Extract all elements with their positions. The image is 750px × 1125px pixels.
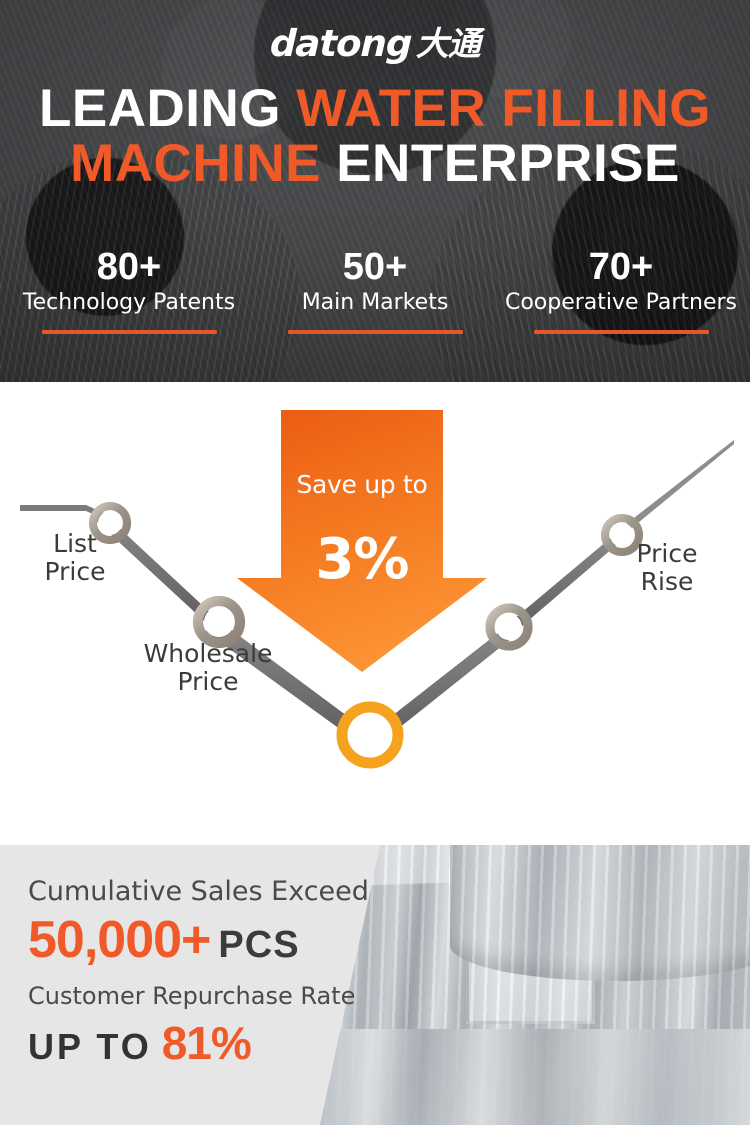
- label-price-rise: Price Rise: [612, 540, 722, 596]
- hero-stats-row: 80+ Technology Patents 50+ Main Markets …: [0, 248, 750, 334]
- logo-latin-text: datong: [270, 25, 413, 62]
- stat-value: 80+: [6, 248, 252, 288]
- node-mid-right-inner: [496, 614, 522, 640]
- stat-value: 70+: [498, 248, 744, 288]
- repurchase-caption: Customer Repurchase Rate: [28, 981, 388, 1011]
- label-price-rise-line1: Price: [637, 539, 698, 568]
- sales-figure-row: 50,000+PCS: [28, 913, 388, 968]
- stat-main-markets: 50+ Main Markets: [252, 248, 498, 334]
- stat-underline: [42, 330, 217, 334]
- headline-line-1: LEADING WATER FILLING: [0, 82, 750, 137]
- headline-machine: MACHINE: [70, 134, 336, 193]
- headline-leading: LEADING: [39, 79, 296, 138]
- label-wholesale-price-line1: Wholesale: [144, 639, 273, 668]
- sales-caption: Cumulative Sales Exceed: [28, 875, 388, 909]
- discount-arrow: [237, 410, 487, 672]
- label-list-price-line2: Price: [45, 557, 106, 586]
- stat-underline: [534, 330, 709, 334]
- label-list-price-line1: List: [53, 529, 97, 558]
- stat-label: Main Markets: [252, 290, 498, 316]
- repurchase-figure-row: UP TO81%: [28, 1019, 388, 1067]
- repurchase-value: 81%: [162, 1017, 251, 1069]
- logo-cjk-text: 大通: [416, 27, 480, 60]
- sales-unit: PCS: [218, 924, 299, 966]
- stat-technology-patents: 80+ Technology Patents: [6, 248, 252, 334]
- stat-cooperative-partners: 70+ Cooperative Partners: [498, 248, 744, 334]
- price-chart-section: Save up to 3% List Price Wholesale Price…: [0, 382, 750, 845]
- sales-value: 50,000+: [28, 911, 210, 969]
- label-wholesale-price-line2: Price: [178, 667, 239, 696]
- node-wholesale-price-inner: [204, 607, 234, 637]
- stat-label: Cooperative Partners: [498, 290, 744, 316]
- label-price-rise-line2: Rise: [641, 567, 694, 596]
- label-wholesale-price: Wholesale Price: [118, 640, 298, 696]
- price-line-chart: [0, 382, 750, 845]
- infographic-page: datong 大通 LEADING WATER FILLING MACHINE …: [0, 0, 750, 1125]
- repurchase-prefix: UP TO: [28, 1026, 152, 1067]
- stat-underline: [288, 330, 463, 334]
- sales-text-block: Cumulative Sales Exceed 50,000+PCS Custo…: [28, 875, 388, 1068]
- label-list-price: List Price: [20, 530, 130, 586]
- sales-section: Cumulative Sales Exceed 50,000+PCS Custo…: [0, 845, 750, 1125]
- hero-banner: datong 大通 LEADING WATER FILLING MACHINE …: [0, 0, 750, 382]
- headline-enterprise: ENTERPRISE: [336, 134, 680, 193]
- hero-headline: LEADING WATER FILLING MACHINE ENTERPRISE: [0, 82, 750, 191]
- headline-line-2: MACHINE ENTERPRISE: [0, 137, 750, 192]
- stat-label: Technology Patents: [6, 290, 252, 316]
- headline-water-filling: WATER FILLING: [296, 79, 711, 138]
- stat-value: 50+: [252, 248, 498, 288]
- brand-logo: datong 大通: [0, 22, 750, 64]
